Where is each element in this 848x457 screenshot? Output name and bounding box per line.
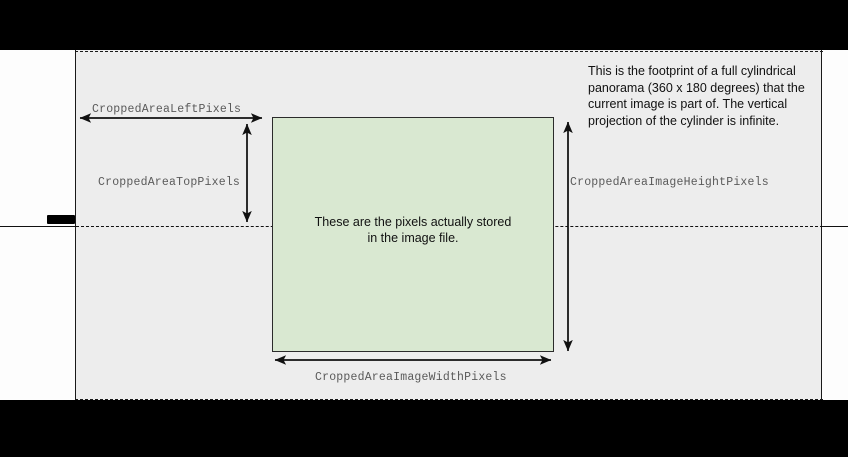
label-cropped-area-left-pixels: CroppedAreaLeftPixels (92, 103, 241, 116)
label-cropped-area-image-height-pixels: CroppedAreaImageHeightPixels (570, 176, 769, 189)
diagram-canvas: These are the pixels actually stored in … (0, 0, 848, 457)
stored-pixels-caption: These are the pixels actually stored in … (273, 214, 553, 246)
label-cropped-area-top-pixels: CroppedAreaTopPixels (98, 176, 240, 189)
stored-pixels-caption-line-2: in the image file. (367, 231, 458, 245)
equator-line-left-segment (0, 226, 76, 227)
panorama-top-edge-dashed (75, 51, 823, 52)
equator-stub-marker-icon (47, 215, 75, 224)
label-cropped-area-image-width-pixels: CroppedAreaImageWidthPixels (315, 371, 507, 384)
stored-pixels-caption-line-1: These are the pixels actually stored (315, 215, 512, 229)
letterbox-top (0, 0, 848, 50)
panorama-description-text: This is the footprint of a full cylindri… (588, 63, 828, 129)
stored-pixels-rectangle: These are the pixels actually stored in … (272, 117, 554, 352)
letterbox-bottom (0, 400, 848, 457)
equator-line-right-segment (822, 226, 848, 227)
